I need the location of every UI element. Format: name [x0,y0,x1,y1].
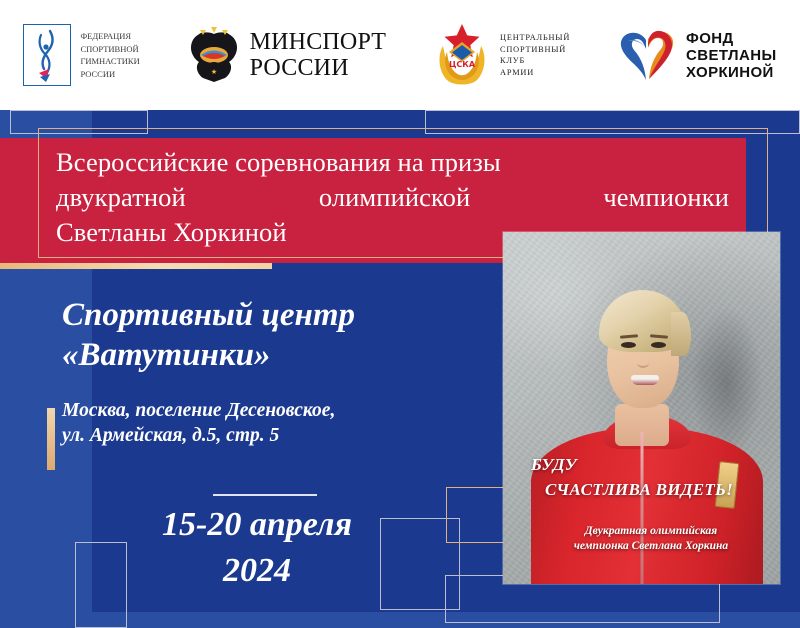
poster-root: ФЕДЕРАЦИЯ СПОРТИВНОЙ ГИМНАСТИКИ РОССИИ ★ [0,0,800,628]
nose [637,358,649,368]
heart-tricolor-icon [617,27,677,83]
logo-minsport-text: МИНСПОРТ РОССИИ [250,29,387,81]
gymnast-figure-svg [33,29,61,83]
logo-line: СПОРТИВНЫЙ [500,44,570,56]
title-word: чемпионки [603,180,729,215]
logo-line: МИНСПОРТ [250,29,387,55]
venue-line-1: Спортивный центр [62,295,492,335]
logo-federation-gymnastics-text: ФЕДЕРАЦИЯ СПОРТИВНОЙ ГИМНАСТИКИ РОССИИ [80,30,139,80]
logo-fond-khorkina-text: ФОНД СВЕТЛАНЫ ХОРКИНОЙ [686,30,777,81]
greeting-line-2: СЧАСТЛИВА ВИДЕТЬ! [531,477,767,502]
svg-text:ЦСКА: ЦСКА [449,60,476,69]
logo-fond-khorkina: ФОНД СВЕТЛАНЫ ХОРКИНОЙ [617,27,777,83]
logo-line: АРМИИ [500,67,570,79]
logo-minsport: ★ МИНСПОРТ РОССИИ [187,24,387,86]
svg-text:★: ★ [210,68,216,76]
title-word: двукратной [56,180,186,215]
gold-underline-bar [0,263,272,269]
logo-line: ФЕДЕРАЦИЯ [80,30,139,43]
logo-line: РОССИИ [80,68,139,81]
logo-line: РОССИИ [250,55,387,81]
cska-star-wreath-icon: ЦСКА [433,22,491,88]
caption-line-2: чемпионка Светлана Хоркина [531,539,771,554]
title-line-2: двукратной олимпийской чемпионки [56,180,729,215]
photo-caption: Двукратная олимпийская чемпионка Светлан… [531,524,771,554]
date-divider-rule [213,494,317,496]
date-line-2: 2024 [62,548,452,594]
title-line-1: Всероссийские соревнования на призы [56,145,756,180]
photo-greeting: БУДУ СЧАСТЛИВА ВИДЕТЬ! [531,452,767,502]
sponsor-logo-bar: ФЕДЕРАЦИЯ СПОРТИВНОЙ ГИМНАСТИКИ РОССИИ ★ [0,0,800,110]
date-line-1: 15-20 апреля [162,506,352,543]
greeting-line-1: БУДУ [531,455,577,474]
address-line-2: ул. Армейская, д.5, стр. 5 [62,423,502,448]
logo-line: КЛУБ [500,55,570,67]
logo-line: ГИМНАСТИКИ [80,55,139,68]
double-headed-eagle-icon: ★ [187,24,241,86]
hair [599,290,687,352]
logo-line: ФОНД [686,30,777,47]
venue-line-2: «Ватутинки» [62,335,492,375]
logo-line: СВЕТЛАНЫ [686,47,777,64]
decor-bar-address [47,408,55,470]
venue-address: Москва, поселение Десеновское, ул. Армей… [62,398,502,448]
address-line-1: Москва, поселение Десеновское, [62,398,502,423]
eye-right [651,342,666,348]
logo-cska-text: ЦЕНТРАЛЬНЫЙ СПОРТИВНЫЙ КЛУБ АРМИИ [500,32,570,78]
event-dates: 15-20 апреля 2024 [62,502,452,594]
logo-line: ХОРКИНОЙ [686,64,777,81]
caption-line-1: Двукратная олимпийская [531,524,771,539]
venue-name: Спортивный центр «Ватутинки» [62,295,492,375]
logo-cska: ЦСКА ЦЕНТРАЛЬНЫЙ СПОРТИВНЫЙ КЛУБ АРМИИ [433,22,570,88]
logo-line: ЦЕНТРАЛЬНЫЙ [500,32,570,44]
khorkina-photo: БУДУ СЧАСТЛИВА ВИДЕТЬ! Двукратная олимпи… [503,232,780,584]
logo-line: СПОРТИВНОЙ [80,43,139,56]
title-word: олимпийской [319,180,470,215]
eye-left [621,342,636,348]
gymnast-figure-icon [23,24,71,86]
mouth [631,375,659,385]
logo-federation-gymnastics: ФЕДЕРАЦИЯ СПОРТИВНОЙ ГИМНАСТИКИ РОССИИ [23,24,139,86]
